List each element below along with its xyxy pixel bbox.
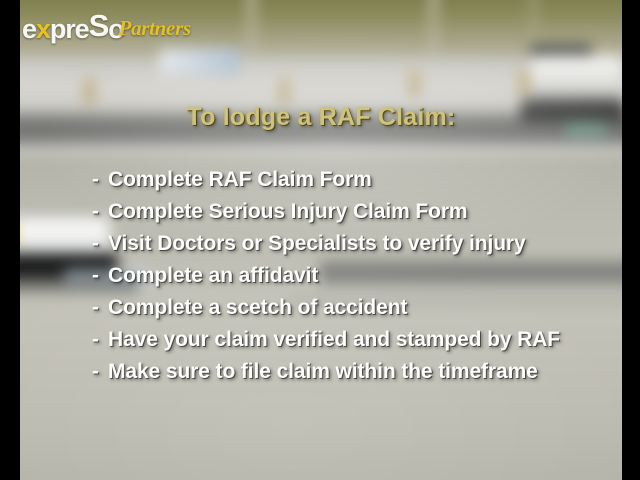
vehicle-left-body [20, 218, 110, 258]
roadside-marker-icon [85, 78, 94, 104]
background-road-surface [20, 152, 622, 480]
background-road-strip [320, 260, 622, 286]
roadside-marker-icon [410, 70, 419, 96]
background-blur-layer [20, 0, 622, 480]
vehicle-left-shadow [20, 276, 140, 292]
logo-letter-x: x [36, 16, 50, 43]
background-road-strip [290, 288, 622, 306]
background-scene [20, 0, 622, 480]
vehicle-right-shadow [520, 100, 622, 122]
logo-letters-pre: pre [50, 16, 89, 43]
logo-letter-e: e [22, 16, 36, 43]
letterbox-bar-right [622, 0, 640, 480]
roadside-sign [160, 48, 240, 74]
roadside-marker-icon [280, 78, 289, 104]
logo-letter-s: S [89, 10, 109, 41]
vehicle-right-accent [566, 122, 606, 136]
expresso-partners-logo: expreSoPartners [22, 12, 191, 43]
logo-partners-word: Partners [119, 18, 191, 39]
roadside-pole-icon [530, 0, 537, 44]
video-frame: expreSoPartners To lodge a RAF Claim: -C… [0, 0, 640, 480]
letterbox-bar-left [0, 0, 20, 480]
roadside-marker-icon [520, 70, 529, 96]
